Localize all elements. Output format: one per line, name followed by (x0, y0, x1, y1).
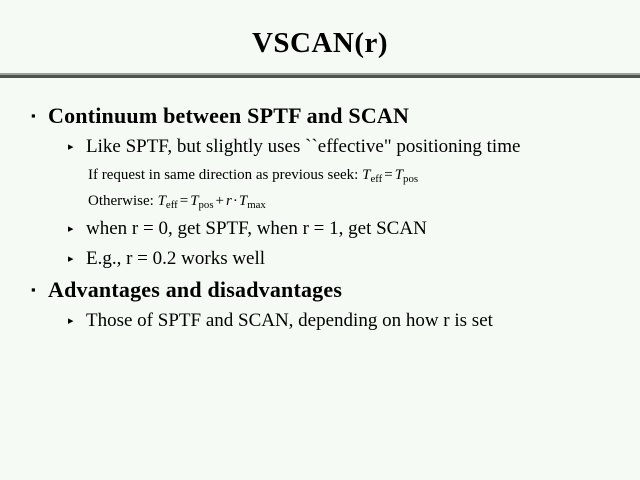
square-bullet-icon: ▪ (31, 274, 36, 306)
math-lead-text: Otherwise: (88, 193, 158, 209)
triangle-bullet-icon: ▸ (68, 244, 74, 274)
bullet-item-level2: ▸ Those of SPTF and SCAN, depending on h… (0, 306, 640, 336)
math-subscript-pos: pos (403, 173, 418, 185)
math-symbol-T-pos: T (190, 193, 198, 209)
math-subscript-eff: eff (370, 173, 382, 185)
math-line: Otherwise: Teff=Tpos+r·Tmax (0, 188, 640, 214)
triangle-bullet-icon: ▸ (68, 214, 74, 244)
slide-canvas: VSCAN(r) ▪ Continuum between SPTF and SC… (0, 0, 640, 480)
bullet-text: Like SPTF, but slightly uses ``effective… (86, 136, 520, 157)
bullet-item-level2: ▸ when r = 0, get SPTF, when r = 1, get … (0, 214, 640, 244)
title-area: VSCAN(r) (0, 26, 640, 60)
math-symbol-r: r (226, 193, 232, 209)
bullet-text: E.g., r = 0.2 works well (86, 248, 265, 269)
math-line: If request in same direction as previous… (0, 162, 640, 188)
bullet-text: Those of SPTF and SCAN, depending on how… (86, 310, 493, 331)
math-symbol-T-eff: T (158, 193, 166, 209)
bullet-text: when r = 0, get SPTF, when r = 1, get SC… (86, 218, 427, 239)
math-subscript-max: max (247, 199, 266, 211)
math-operator-equals: = (178, 193, 190, 209)
triangle-bullet-icon: ▸ (68, 132, 74, 162)
math-subscript-eff: eff (166, 199, 178, 211)
bullet-item-level1: ▪ Advantages and disadvantages (0, 274, 640, 306)
bullet-item-level2: ▸ E.g., r = 0.2 works well (0, 244, 640, 274)
page-title: VSCAN(r) (0, 26, 640, 60)
triangle-bullet-icon: ▸ (68, 306, 74, 336)
math-symbol-T-max: T (239, 193, 247, 209)
math-operator-plus: + (214, 193, 226, 209)
bullet-text: Advantages and disadvantages (48, 277, 342, 302)
slide-body: ▪ Continuum between SPTF and SCAN ▸ Like… (0, 100, 640, 336)
math-operator-cdot: · (232, 193, 239, 209)
square-bullet-icon: ▪ (31, 100, 36, 132)
bullet-item-level2: ▸ Like SPTF, but slightly uses ``effecti… (0, 132, 640, 162)
math-operator-equals: = (382, 167, 394, 183)
bullet-text: Continuum between SPTF and SCAN (48, 103, 409, 128)
divider-shadow (0, 75, 640, 78)
math-lead-text: If request in same direction as previous… (88, 167, 362, 183)
title-divider (0, 73, 640, 78)
math-symbol-T-pos: T (395, 167, 403, 183)
math-subscript-pos: pos (199, 199, 214, 211)
bullet-item-level1: ▪ Continuum between SPTF and SCAN (0, 100, 640, 132)
